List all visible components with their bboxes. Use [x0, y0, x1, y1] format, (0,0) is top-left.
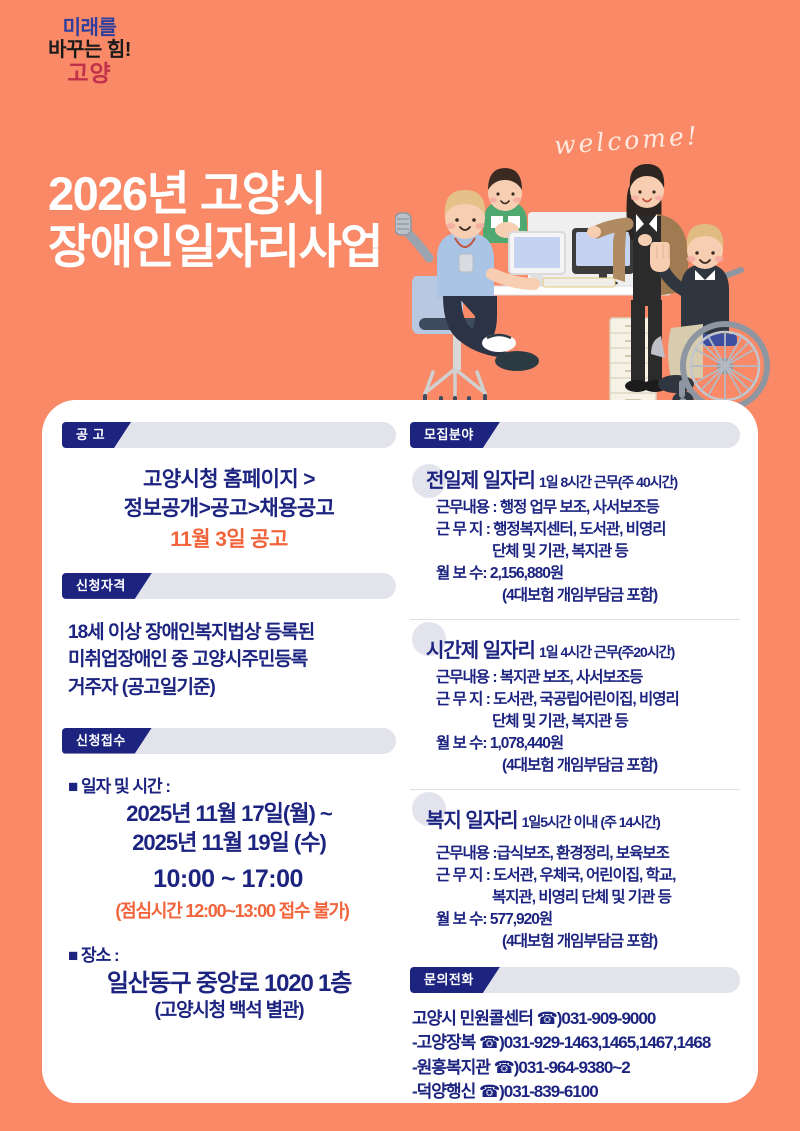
right-column: 모집분야 전일제 일자리1일 8시간 근무(주 40시간) 근무내용 : 행정 … [410, 422, 740, 1105]
office-workers-illustration [395, 128, 795, 418]
left-column: 공 고 고양시청 홈페이지 > 정보공개>공고>채용공고 11월 3일 공고 신… [62, 422, 396, 1024]
contact-line: 고양시 민원콜센터 ☎)031-909-9000 [412, 1007, 740, 1031]
qualification-line-2: 미취업장애인 중 고양시주민등록 [68, 646, 396, 674]
page-title-line-1: 2026년 고양시 [48, 168, 382, 221]
contact-body: 고양시 민원콜센터 ☎)031-909-9000 -고양장복 ☎)031-929… [410, 1007, 740, 1105]
job-detail-line: 월 보 수: 2,156,880원 [436, 563, 740, 585]
logo-line-1: 미래를 [22, 18, 157, 40]
section-header-application: 신청접수 [62, 728, 396, 754]
job-detail-line: (4대보험 개임부담금 포함) [436, 755, 740, 777]
logo-line-3: 고양 [22, 61, 157, 86]
contact-line: -고양장복 ☎)031-929-1463,1465,1467,1468 [412, 1031, 740, 1055]
job-title: 전일제 일자리 [426, 470, 535, 492]
section-header-recruitment: 모집분야 [410, 422, 740, 448]
application-lunch-note: (점심시간 12:00~13:00 접수 불가) [68, 897, 396, 923]
contact-line: -원흥복지관 ☎)031-964-9380~2 [412, 1056, 740, 1080]
section-tag-application: 신청접수 [62, 728, 152, 754]
qualification-line-3: 거주자 (공고일기준) [68, 674, 396, 702]
job-details: 근무내용 : 복지관 보조, 사서보조등 근 무 지 : 도서관, 국공립어린이… [410, 667, 740, 777]
job-hours: 1일 8시간 근무(주 40시간) [539, 474, 677, 490]
section-tag-recruitment: 모집분야 [410, 422, 500, 448]
qualification-line-1: 18세 이상 장애인복지법상 등록된 [68, 619, 396, 647]
section-header-qualification: 신청자격 [62, 573, 396, 599]
job-heading: 시간제 일자리1일 4시간 근무(주20시간) [410, 634, 740, 663]
job-heading: 전일제 일자리1일 8시간 근무(주 40시간) [410, 464, 740, 493]
application-place-label: 장소 : [68, 941, 396, 966]
job-title: 복지 일자리 [426, 810, 518, 832]
job-detail-line: 월 보 수: 577,920원 [436, 909, 740, 931]
job-hours: 1일5시간 이내 (주 14시간) [522, 814, 660, 830]
application-place-sub: (고양시청 백석 별관) [68, 999, 390, 1024]
job-heading: 복지 일자리1일5시간 이내 (주 14시간) [410, 804, 740, 833]
job-details: 근무내용 :급식보조, 환경정리, 보육보조 근 무 지 : 도서관, 우체국,… [410, 843, 740, 953]
application-place-main: 일산동구 중앙로 1020 1층 [107, 970, 351, 997]
job-detail-line: 복지관, 비영리 단체 및 기관 등 [436, 887, 740, 909]
notice-line-2: 정보공개>공고>채용공고 [62, 495, 396, 524]
page-title-line-2: 장애인일자리사업 [48, 221, 382, 274]
contact-line: -덕양행신 ☎)031-839-6100 [412, 1080, 740, 1104]
application-hours: 10:00 ~ 17:00 [68, 865, 396, 894]
info-card: 공 고 고양시청 홈페이지 > 정보공개>공고>채용공고 11월 3일 공고 신… [42, 400, 758, 1103]
notice-line-1: 고양시청 홈페이지 > [62, 466, 396, 495]
qualification-body: 18세 이상 장애인복지법상 등록된 미취업장애인 중 고양시주민등록 거주자 … [62, 613, 396, 706]
job-block: 시간제 일자리1일 4시간 근무(주20시간) 근무내용 : 복지관 보조, 사… [410, 619, 740, 777]
job-block: 복지 일자리1일5시간 이내 (주 14시간) 근무내용 :급식보조, 환경정리… [410, 789, 740, 953]
job-detail-line: 근무내용 : 행정 업무 보조, 사서보조등 [436, 497, 740, 519]
job-detail-line: 근 무 지 : 행정복지센터, 도서관, 비영리 [436, 519, 740, 541]
job-detail-line: 근 무 지 : 도서관, 우체국, 어린이집, 학교, [436, 865, 740, 887]
section-tag-contact: 문의전화 [410, 967, 500, 993]
application-date-line-2: 2025년 11월 19일 (수) [68, 828, 390, 857]
job-detail-line: 단체 및 기관, 복지관 등 [436, 711, 740, 733]
section-header-notice: 공 고 [62, 422, 396, 448]
gyeonggi-goyang-logo: 미래를 바꾸는 힘! 고양 [22, 18, 157, 86]
poster-root: 미래를 바꾸는 힘! 고양 2026년 고양시 장애인일자리사업 welcome… [0, 0, 800, 1131]
job-block: 전일제 일자리1일 8시간 근무(주 40시간) 근무내용 : 행정 업무 보조… [410, 462, 740, 607]
application-body: 일자 및 시간 : 2025년 11월 17일(월) ~ 2025년 11월 1… [62, 768, 396, 1024]
page-title: 2026년 고양시 장애인일자리사업 [48, 168, 382, 273]
job-title: 시간제 일자리 [426, 640, 535, 662]
notice-accent-date: 11월 3일 공고 [62, 526, 396, 555]
application-date-label: 일자 및 시간 : [68, 772, 396, 797]
logo-line-2: 바꾸는 힘! [22, 40, 157, 62]
section-header-contact: 문의전화 [410, 967, 740, 993]
job-detail-line: (4대보험 개임부담금 포함) [436, 931, 740, 953]
application-dates: 2025년 11월 17일(월) ~ 2025년 11월 19일 (수) [68, 799, 396, 858]
section-tag-notice: 공 고 [62, 422, 131, 448]
application-date-line-1: 2025년 11월 17일(월) ~ [68, 799, 390, 828]
job-detail-line: 월 보 수: 1,078,440원 [436, 733, 740, 755]
job-detail-line: 근무내용 :급식보조, 환경정리, 보육보조 [436, 843, 740, 865]
job-detail-line: (4대보험 개임부담금 포함) [436, 585, 740, 607]
notice-body: 고양시청 홈페이지 > 정보공개>공고>채용공고 11월 3일 공고 [62, 462, 396, 557]
job-detail-line: 근무내용 : 복지관 보조, 사서보조등 [436, 667, 740, 689]
job-detail-line: 근 무 지 : 도서관, 국공립어린이집, 비영리 [436, 689, 740, 711]
job-detail-line: 단체 및 기관, 복지관 등 [436, 541, 740, 563]
section-tag-qualification: 신청자격 [62, 573, 152, 599]
job-hours: 1일 4시간 근무(주20시간) [539, 644, 674, 660]
job-details: 근무내용 : 행정 업무 보조, 사서보조등 근 무 지 : 행정복지센터, 도… [410, 497, 740, 607]
application-place: 일산동구 중앙로 1020 1층 (고양시청 백석 별관) [68, 968, 396, 1024]
